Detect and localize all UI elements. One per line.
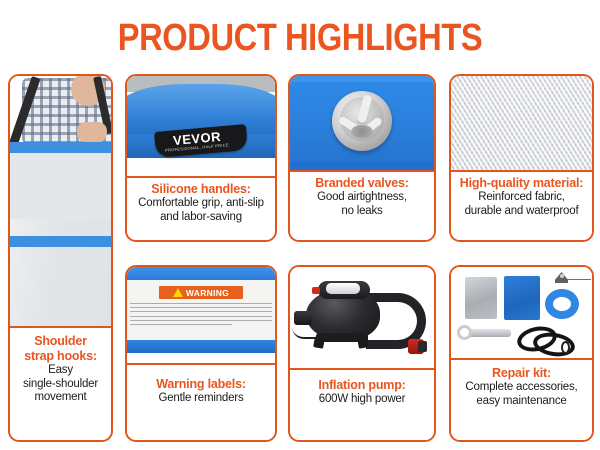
card-desc-line1: Easy <box>14 364 107 378</box>
page-title: PRODUCT HIGHLIGHTS <box>42 18 558 58</box>
highlight-card-warning-labels[interactable]: WARNING Warning labels: Gentle reminders <box>125 265 277 442</box>
board-blue-band-middle <box>10 236 111 247</box>
card-title: Branded valves: <box>294 176 430 190</box>
card-desc-line2: durable and waterproof <box>455 205 588 219</box>
card-desc-line3: movement <box>14 391 107 405</box>
warning-banner: WARNING <box>159 286 243 299</box>
board-blue-band-bottom <box>127 340 275 353</box>
card-title: Repair kit: <box>455 366 588 380</box>
board-blue-band-top <box>10 142 111 153</box>
warning-banner-text: WARNING <box>186 288 229 298</box>
card-caption-shoulder-strap-hooks: Shoulder strap hooks: Easy single-should… <box>10 328 111 440</box>
card-image-warning-labels: WARNING <box>127 267 275 363</box>
folded-board-shape <box>10 142 111 326</box>
leash-strap-icon <box>517 325 573 351</box>
card-caption-repair-kit: Repair kit: Complete accessories, easy m… <box>451 360 592 442</box>
highlight-card-repair-kit[interactable]: Repair kit: Complete accessories, easy m… <box>449 265 594 442</box>
inflation-pump-icon <box>290 267 434 368</box>
card-desc-line1: Complete accessories, <box>455 381 588 395</box>
warning-fine-print <box>130 303 272 337</box>
card-desc-line2: easy maintenance <box>455 395 588 409</box>
card-image-silicone-handles: VEVOR PROFESSIONAL, HALF PRICE <box>127 76 275 176</box>
blue-ring-patch <box>545 289 579 319</box>
card-title: Silicone handles: <box>131 182 271 196</box>
card-caption-high-quality-material: High-quality material: Reinforced fabric… <box>451 172 592 242</box>
highlight-card-branded-valves[interactable]: Branded valves: Good airtightness, no le… <box>288 74 436 242</box>
highlight-card-shoulder-strap-hooks[interactable]: Shoulder strap hooks: Easy single-should… <box>8 74 113 442</box>
card-image-branded-valves <box>290 76 434 170</box>
card-desc-line1: Comfortable grip, anti-slip <box>131 197 271 211</box>
card-desc-line1: 600W high power <box>294 393 430 407</box>
pump-power-cord <box>292 325 318 339</box>
card-desc-line1: Gentle reminders <box>131 392 271 406</box>
card-desc-line2: and labor-saving <box>131 211 271 225</box>
warning-triangle-icon <box>173 288 183 297</box>
card-image-repair-kit <box>451 267 592 358</box>
board-blue-band-top <box>127 267 275 280</box>
highlight-card-silicone-handles[interactable]: VEVOR PROFESSIONAL, HALF PRICE Silicone … <box>125 74 277 242</box>
card-desc-line1: Reinforced fabric, <box>455 191 588 205</box>
card-title: Inflation pump: <box>294 378 430 392</box>
card-desc-line1: Good airtightness, <box>294 191 430 205</box>
card-desc-line2: no leaks <box>294 205 430 219</box>
product-highlights-infographic: PRODUCT HIGHLIGHTS Shoulder strap hooks: <box>0 0 600 450</box>
highlight-card-inflation-pump[interactable]: Inflation pump: 600W high power <box>288 265 436 442</box>
hand-shape <box>77 122 107 142</box>
blue-repair-patch <box>504 276 540 320</box>
card-image-shoulder-strap-hooks <box>10 76 111 326</box>
card-title: Warning labels: <box>131 377 271 391</box>
fabric-texture-swatch <box>451 76 592 170</box>
card-title-line1: Shoulder <box>14 334 107 349</box>
gray-repair-patch <box>465 277 497 319</box>
card-desc-line2: single-shoulder <box>14 378 107 392</box>
hook-icon <box>561 341 570 354</box>
pump-power-switch <box>312 287 320 294</box>
card-caption-branded-valves: Branded valves: Good airtightness, no le… <box>290 172 434 242</box>
card-image-inflation-pump <box>290 267 434 368</box>
valve-icon <box>332 91 392 151</box>
pump-top-label <box>326 283 360 294</box>
card-image-high-quality-material <box>451 76 592 170</box>
card-caption-inflation-pump: Inflation pump: 600W high power <box>290 370 434 442</box>
card-title: High-quality material: <box>455 176 588 190</box>
card-caption-warning-labels: Warning labels: Gentle reminders <box>127 365 275 442</box>
card-caption-silicone-handles: Silicone handles: Comfortable grip, anti… <box>127 178 275 242</box>
board-white-edge <box>127 158 275 176</box>
highlight-card-high-quality-material[interactable]: High-quality material: Reinforced fabric… <box>449 74 594 242</box>
card-title-line2: strap hooks: <box>14 349 107 364</box>
